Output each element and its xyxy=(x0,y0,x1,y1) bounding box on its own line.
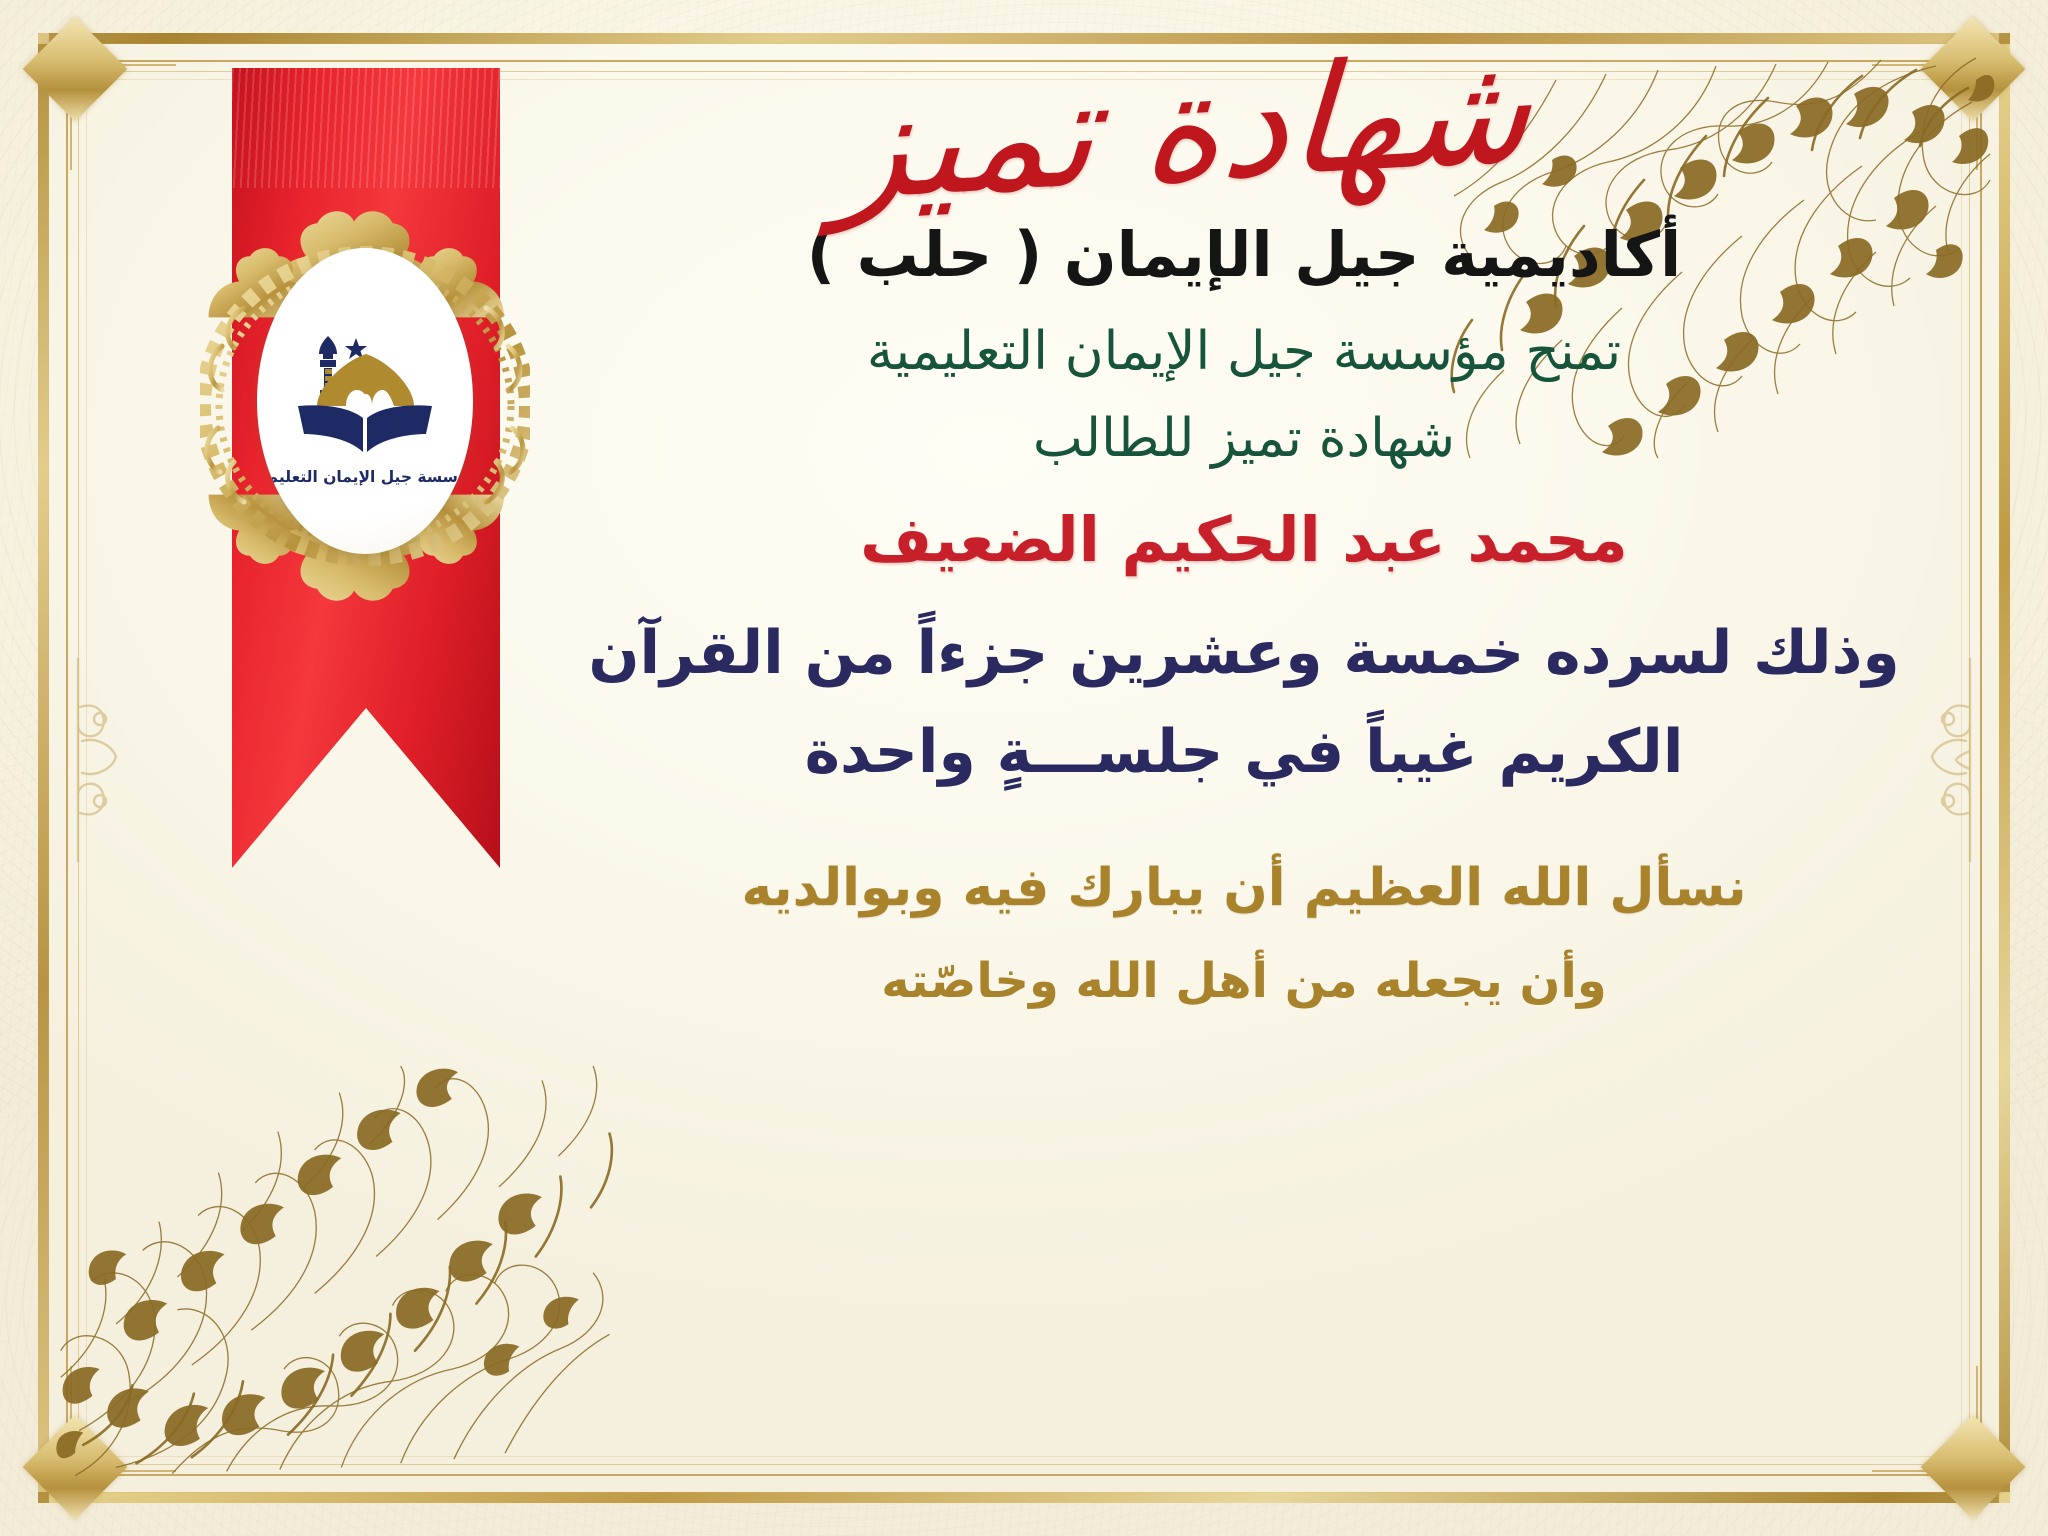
granting-institution-line: تمنح مؤسسة جيل الإيمان التعليمية xyxy=(560,321,1928,382)
side-ornament-right-icon xyxy=(1930,645,1984,875)
academy-name: أكاديمية جيل الإيمان ( حلب ) xyxy=(560,218,1928,291)
ribbon-sheen xyxy=(232,68,500,188)
award-type-line: شهادة تميز للطالب xyxy=(560,408,1928,469)
side-ornament-left-icon xyxy=(64,645,118,875)
reason-line-1: وذلك لسرده خمسة وعشرين جزءاً من القرآن xyxy=(560,606,1928,701)
supplication-line-1: نسأل الله العظيم أن يبارك فيه وبوالديه xyxy=(560,846,1928,932)
logo-caption: مؤسسة جيل الإيمان التعليمية xyxy=(257,468,473,486)
rosette-medallion: مؤسسة جيل الإيمان التعليمية xyxy=(200,196,530,616)
award-ribbon: مؤسسة جيل الإيمان التعليمية xyxy=(200,68,530,1028)
certificate-canvas: مؤسسة جيل الإيمان التعليمية شهادة تميز أ… xyxy=(0,0,2048,1536)
certificate-body: شهادة تميز أكاديمية جيل الإيمان ( حلب ) … xyxy=(560,40,1928,1476)
mosque-book-logo-icon xyxy=(290,326,440,458)
certificate-title: شهادة تميز xyxy=(553,12,1934,238)
reason-line-2: الكريم غيباً في جلســـةٍ واحدة xyxy=(560,705,1928,800)
institution-logo: مؤسسة جيل الإيمان التعليمية xyxy=(257,248,473,554)
recipient-name: محمد عبد الحكيم الضعيف xyxy=(560,503,1928,576)
supplication-line-2: وأن يجعله من أهل الله وخاصّته xyxy=(560,953,1928,1009)
